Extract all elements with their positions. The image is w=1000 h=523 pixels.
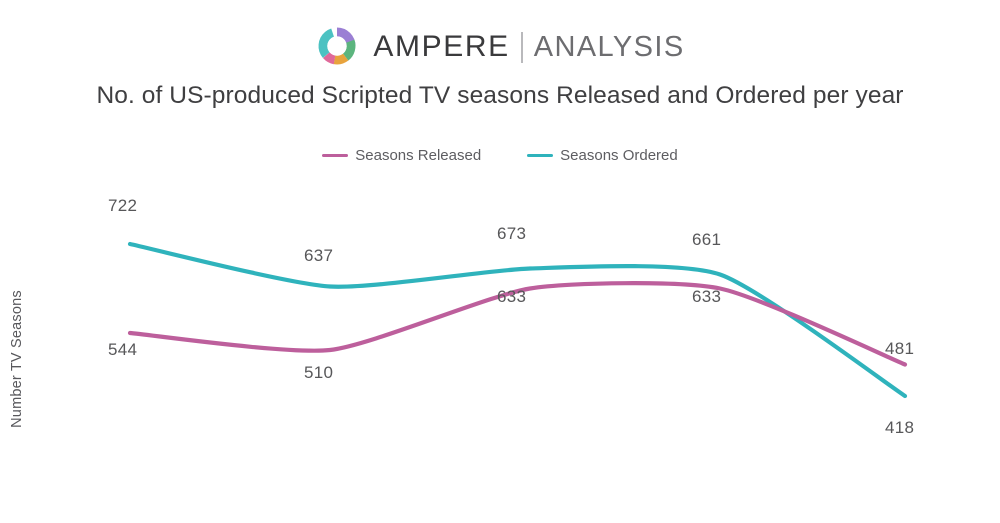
data-label-ordered-0: 722 — [108, 196, 137, 216]
data-label-released-4: 481 — [885, 339, 914, 359]
data-label-ordered-1: 637 — [304, 246, 333, 266]
data-label-released-2: 633 — [497, 287, 526, 307]
chart-lines-svg — [0, 0, 1000, 523]
data-label-ordered-2: 673 — [497, 224, 526, 244]
data-label-ordered-3: 661 — [692, 230, 721, 250]
data-label-released-3: 633 — [692, 287, 721, 307]
plot-area: Number TV Seasons 722 637 673 661 418 54… — [0, 0, 1000, 523]
line-series-seasons-ordered — [130, 244, 905, 396]
data-label-ordered-4: 418 — [885, 418, 914, 438]
data-label-released-0: 544 — [108, 340, 137, 360]
data-label-released-1: 510 — [304, 363, 333, 383]
